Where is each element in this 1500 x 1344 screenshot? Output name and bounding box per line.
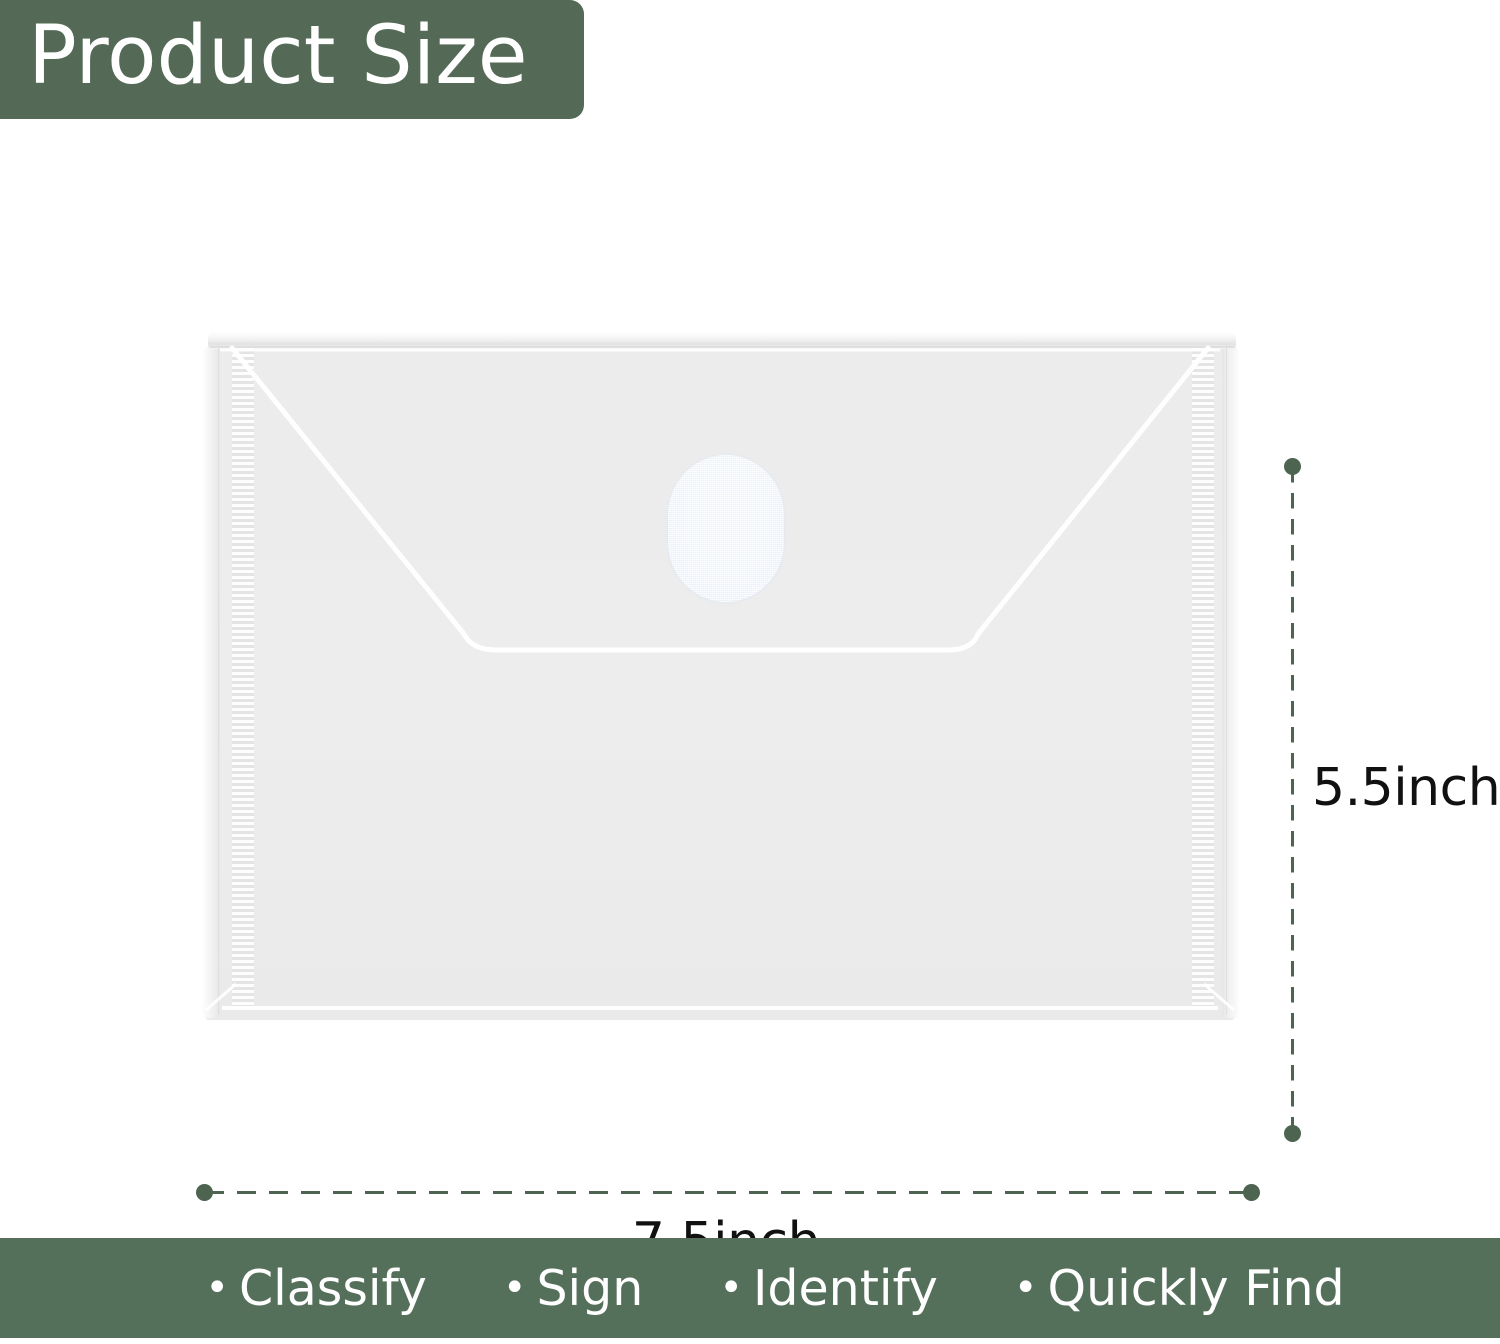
height-dimension-label: 5.5inch	[1312, 758, 1500, 818]
envelope-top-edge-line	[210, 346, 1234, 348]
feature-label: Identify	[753, 1264, 938, 1313]
feature-item-quickly-find: • Quickly Find	[1014, 1264, 1345, 1313]
envelope-body	[205, 346, 1235, 1020]
page-title: Product Size	[0, 16, 528, 97]
bullet-icon: •	[719, 1268, 743, 1308]
envelope-right-fold-line	[1226, 342, 1227, 1014]
feature-label: Quickly Find	[1048, 1264, 1345, 1313]
width-dimension-line	[196, 1188, 1260, 1197]
envelope-right-bevel	[1222, 346, 1239, 1018]
bullet-icon: •	[1014, 1268, 1038, 1308]
feature-label: Sign	[536, 1264, 643, 1313]
height-dimension-line	[1288, 458, 1297, 1142]
width-dimension-dashed-line	[205, 1191, 1251, 1194]
feature-item-sign: • Sign	[503, 1264, 643, 1313]
bullet-icon: •	[503, 1268, 527, 1308]
envelope-left-gusset-strip	[232, 348, 254, 1008]
product-image-envelope	[196, 332, 1244, 1020]
bullet-icon: •	[205, 1268, 229, 1308]
envelope-right-gusset-strip	[1192, 348, 1214, 1008]
feature-banner: • Classify • Sign • Identify • Quickly F…	[0, 1238, 1500, 1338]
envelope-left-fold-line	[218, 342, 219, 1014]
product-size-infographic: Product Size	[0, 0, 1500, 1344]
feature-label: Classify	[239, 1264, 427, 1313]
height-dimension-bottom-endpoint	[1284, 1125, 1301, 1142]
width-dimension-right-endpoint	[1243, 1184, 1260, 1201]
product-stage: 5.5inch 7.5inch	[0, 120, 1500, 1230]
height-dimension-dashed-line	[1291, 467, 1294, 1133]
feature-item-classify: • Classify	[205, 1264, 427, 1313]
header-badge: Product Size	[0, 0, 584, 119]
feature-item-identify: • Identify	[719, 1264, 938, 1313]
hook-and-loop-closure-patch	[668, 455, 784, 602]
